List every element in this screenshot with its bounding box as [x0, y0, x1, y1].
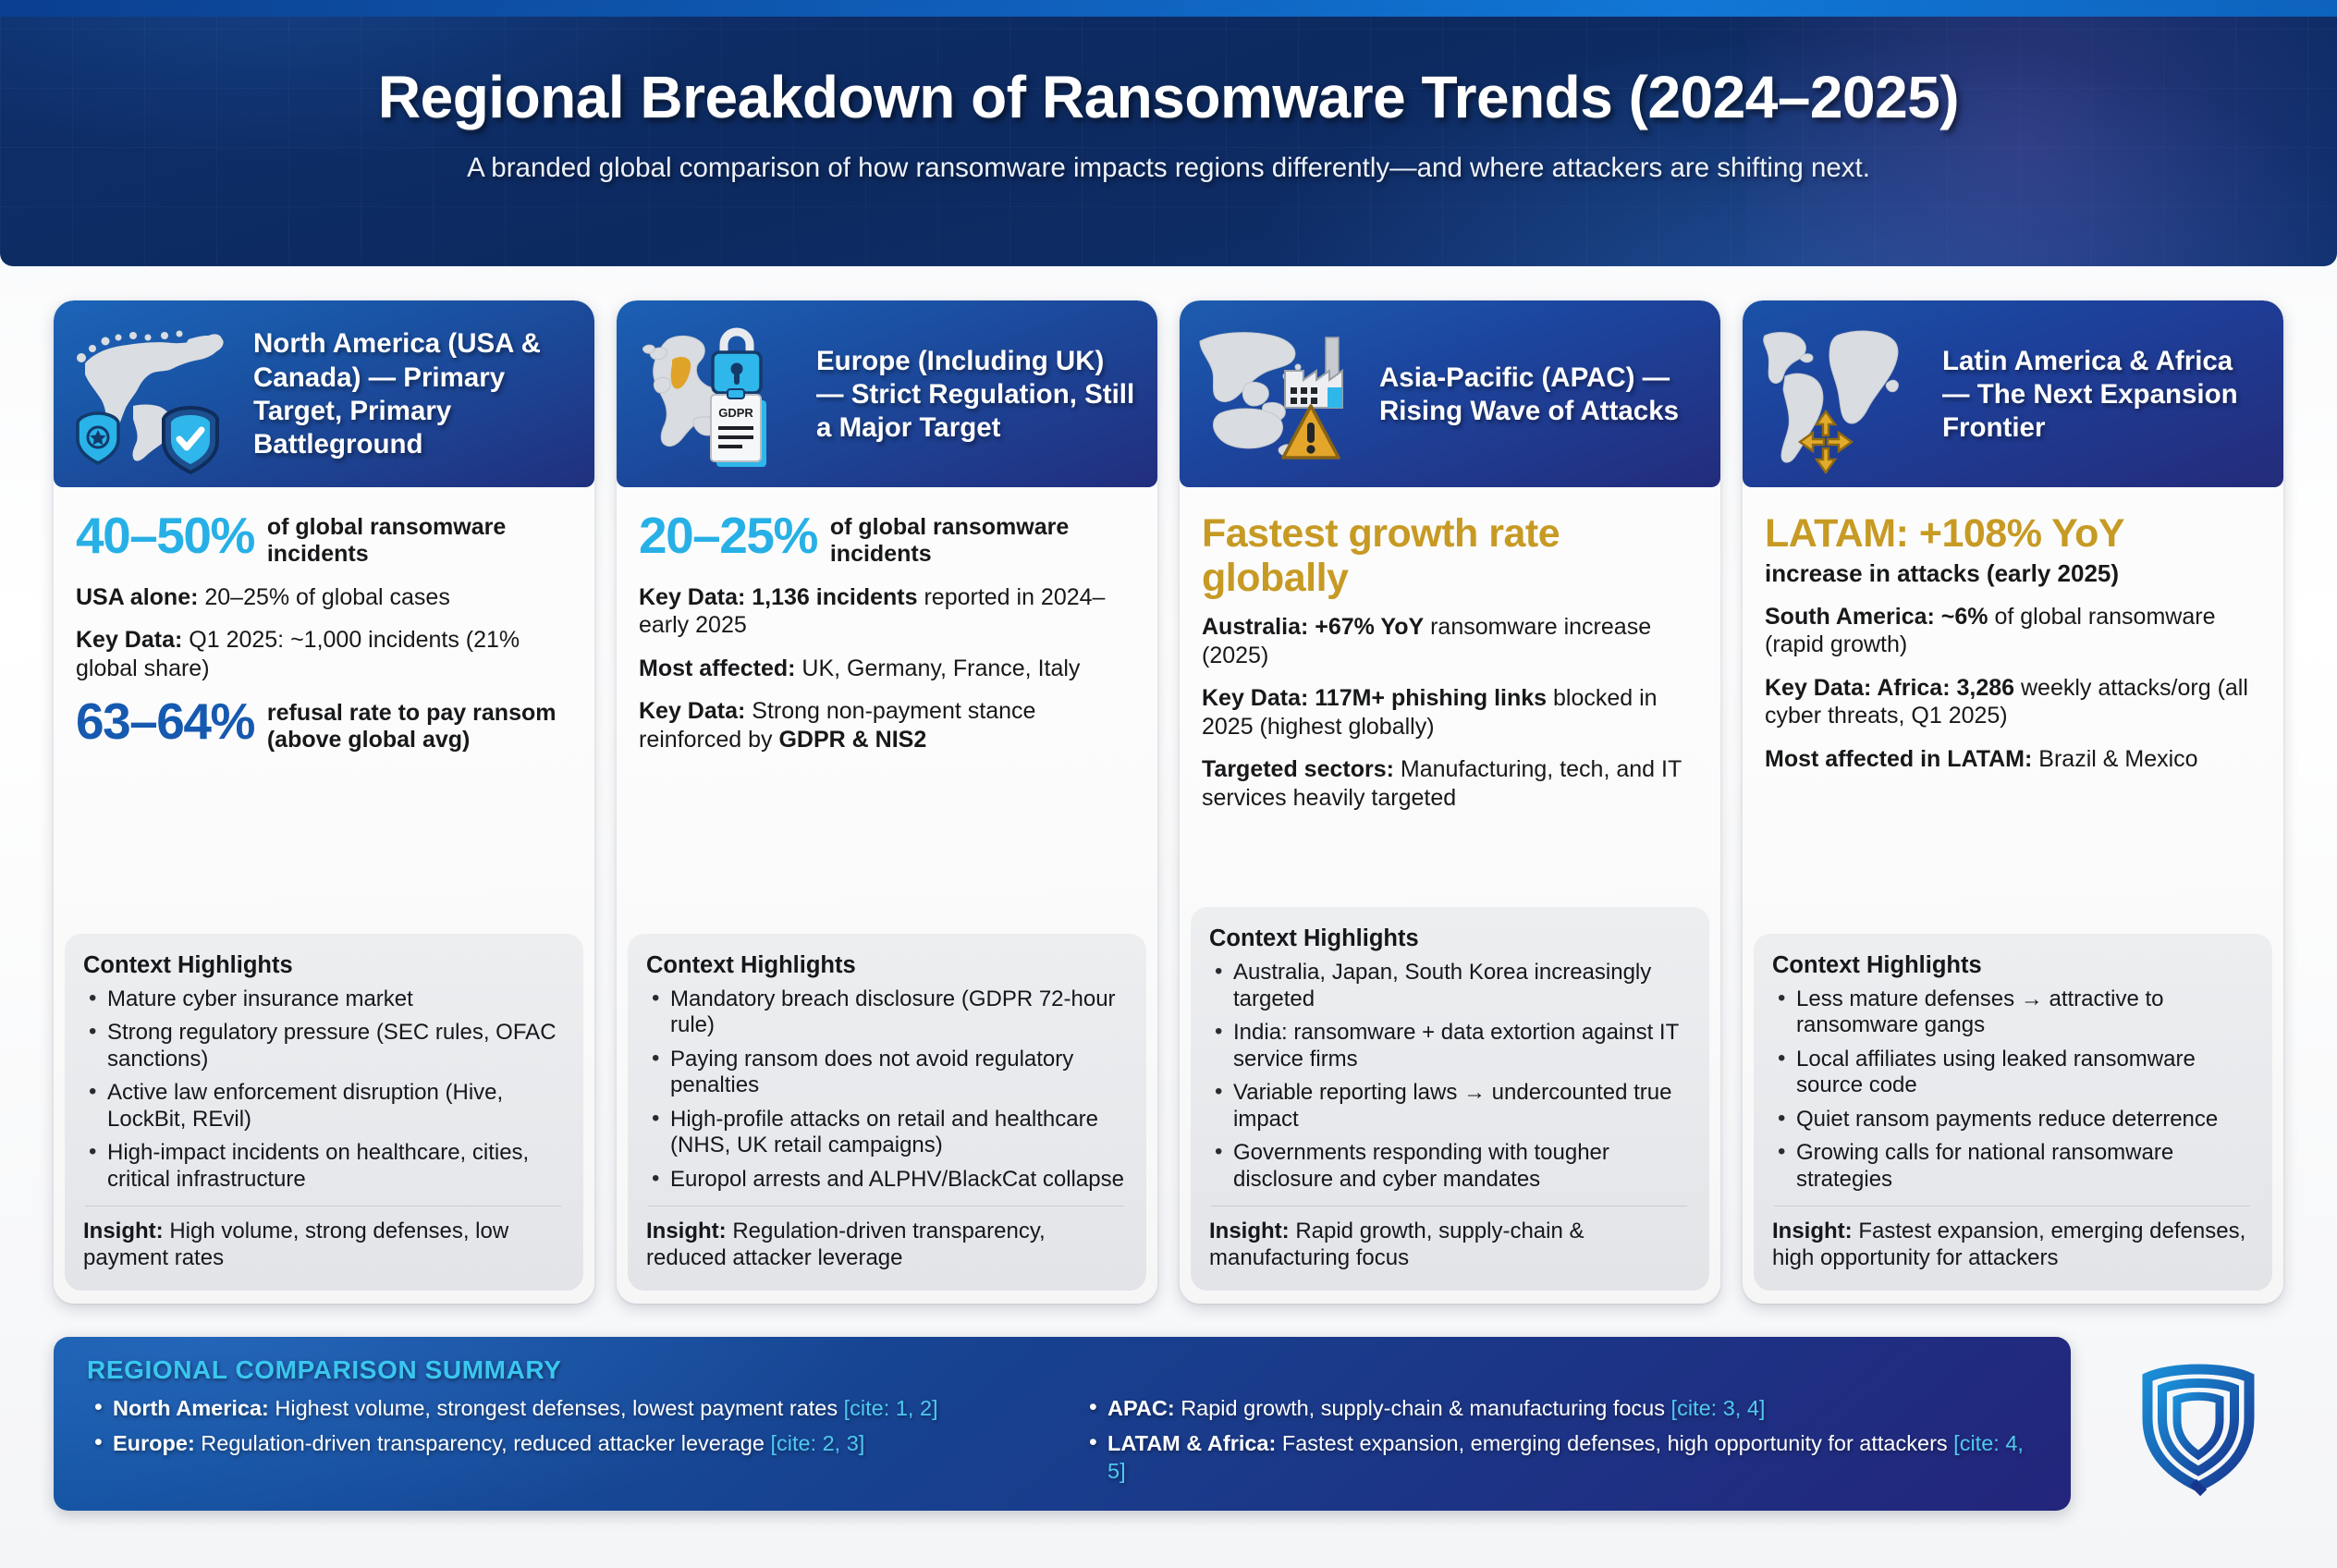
infographic-root: Regional Breakdown of Ransomware Trends … [0, 0, 2337, 1568]
stat-label: of global ransomware incidents [830, 511, 1137, 569]
context-highlights-panel: Context Highlights Less mature defenses … [1754, 934, 2272, 1291]
region-card: Asia-Pacific (APAC) — Rising Wave of Att… [1180, 300, 1720, 1304]
context-list-item: Local affiliates using leaked ransomware… [1772, 1047, 2252, 1099]
context-list-item: Quiet ransom payments reduce deterrence [1772, 1107, 2252, 1133]
insight-line: Insight: Fastest expansion, emerging def… [1772, 1219, 2252, 1272]
context-list-item: Paying ransom does not avoid regulatory … [646, 1047, 1126, 1099]
summary-region-text: Rapid growth, supply-chain & manufacturi… [1175, 1396, 1671, 1420]
summary-title: REGIONAL COMPARISON SUMMARY [87, 1355, 2043, 1385]
latin-america-and-africa-map-with-expansion-arrows-icon [1757, 315, 1933, 474]
divider [648, 1206, 1124, 1207]
summary-list-item: North America: Highest volume, strongest… [87, 1394, 1048, 1423]
fact-line: Most affected: UK, Germany, France, Ital… [639, 655, 1137, 683]
insight-line: Insight: Regulation-driven transparency,… [646, 1219, 1126, 1272]
page-subtitle: A branded global comparison of how ranso… [0, 153, 2337, 184]
fact-emphasis: GDPR & NIS2 [778, 727, 926, 753]
fact-line: USA alone: 20–25% of global cases [76, 583, 574, 612]
header-banner: Regional Breakdown of Ransomware Trends … [0, 17, 2337, 266]
fact-label: Key Data: 117M+ phishing links [1202, 685, 1547, 711]
shield-maze-brand-logo [2117, 1342, 2280, 1505]
card-title: North America (USA & Canada) — Primary T… [253, 327, 578, 461]
divider [1211, 1206, 1687, 1207]
fact-line: Key Data: 1,136 incidents reported in 20… [639, 583, 1137, 640]
fact-label: South America: ~6% [1765, 604, 1988, 630]
fact-line: Key Data: 117M+ phishing links blocked i… [1202, 684, 1700, 741]
card-body: Fastest growth rate globallyAustralia: +… [1180, 487, 1720, 896]
context-list-item: Mature cyber insurance market [83, 986, 563, 1013]
context-list-item: High-profile attacks on retail and healt… [646, 1107, 1126, 1159]
stat-value: 40–50% [76, 511, 254, 560]
insight-line: Insight: High volume, strong defenses, l… [83, 1219, 563, 1272]
context-highlights-panel: Context Highlights Mandatory breach disc… [628, 934, 1146, 1291]
stat-value: 20–25% [639, 511, 817, 560]
summary-region-label: Europe: [113, 1431, 195, 1455]
fact-label: Key Data: [76, 627, 182, 653]
fact-line: Targeted sectors: Manufacturing, tech, a… [1202, 755, 1700, 812]
card-body: 40–50% of global ransomware incidents US… [54, 487, 594, 923]
card-title: Asia-Pacific (APAC) — Rising Wave of Att… [1379, 361, 1704, 429]
card-header: North America (USA & Canada) — Primary T… [54, 300, 594, 487]
fact-line: Key Data: Africa: 3,286 weekly attacks/o… [1765, 674, 2263, 730]
fact-label: Australia: +67% YoY [1202, 614, 1424, 640]
stat-label: of global ransomware incidents [267, 511, 574, 569]
fact-line: Key Data: Q1 2025: ~1,000 incidents (21%… [76, 626, 574, 682]
fact-line: Australia: +67% YoY ransomware increase … [1202, 613, 1700, 669]
context-highlights-panel: Context Highlights Mature cyber insuranc… [65, 934, 583, 1291]
card-body: 20–25% of global ransomware incidents Ke… [617, 487, 1157, 923]
region-card: North America (USA & Canada) — Primary T… [54, 300, 594, 1304]
card-title: Latin America & Africa — The Next Expans… [1942, 345, 2267, 446]
headline-stat: Fastest growth rate globally [1202, 511, 1700, 600]
asia-pacific-map-with-factory-and-warning-triangle-icon [1194, 315, 1370, 474]
context-list-item: Strong regulatory pressure (SEC rules, O… [83, 1020, 563, 1072]
fact-text: UK, Germany, France, Italy [795, 655, 1080, 681]
summary-region-label: APAC: [1107, 1396, 1175, 1420]
card-header: GDPR Europe (Including UK) — Strict Regu… [617, 300, 1157, 487]
card-title: Europe (Including UK) — Strict Regulatio… [816, 345, 1141, 446]
summary-region-text: Regulation-driven transparency, reduced … [195, 1431, 771, 1455]
north-america-map-with-police-badge-and-shield-check-icon [68, 315, 244, 474]
summary-list-item: APAC: Rapid growth, supply-chain & manuf… [1082, 1394, 2043, 1423]
north-america-map-with-police-badge-and-shield-check-icon [68, 315, 244, 474]
context-list-item: Europol arrests and ALPHV/BlackCat colla… [646, 1167, 1126, 1194]
context-highlights-panel: Context Highlights Australia, Japan, Sou… [1191, 907, 1709, 1291]
divider [1774, 1206, 2250, 1207]
summary-region-text: Highest volume, strongest defenses, lowe… [269, 1396, 844, 1420]
page-title: Regional Breakdown of Ransomware Trends … [0, 67, 2337, 129]
context-title: Context Highlights [83, 952, 563, 979]
stat-value: 63–64% [76, 697, 254, 746]
insight-label: Insight: [83, 1219, 164, 1243]
context-list-item: Less mature defenses → attractive to ran… [1772, 986, 2252, 1039]
citation-ref: [cite: 3, 4] [1671, 1396, 1766, 1420]
fact-label: Targeted sectors: [1202, 756, 1394, 782]
context-list: Mature cyber insurance marketStrong regu… [83, 986, 563, 1194]
context-list: Mandatory breach disclosure (GDPR 72-hou… [646, 986, 1126, 1194]
headline-stat: LATAM: +108% YoY [1765, 511, 2263, 556]
europe-map-with-padlock-and-gdpr-document-icon: GDPR [631, 315, 807, 474]
context-title: Context Highlights [1772, 952, 2252, 979]
fact-label: USA alone: [76, 584, 198, 610]
context-list-item: High-impact incidents on healthcare, cit… [83, 1140, 563, 1193]
divider [85, 1206, 561, 1207]
card-body: LATAM: +108% YoYincrease in attacks (ear… [1743, 487, 2283, 923]
citation-ref: [cite: 2, 3] [770, 1431, 864, 1455]
citation-ref: [cite: 1, 2] [844, 1396, 938, 1420]
context-list-item: Mandatory breach disclosure (GDPR 72-hou… [646, 986, 1126, 1039]
regional-comparison-summary: REGIONAL COMPARISON SUMMARY North Americ… [54, 1337, 2071, 1511]
stat-block: 20–25% of global ransomware incidents [639, 511, 1137, 569]
headline-stat-sub: increase in attacks (early 2025) [1765, 559, 2263, 588]
fact-label: Key Data: [639, 698, 745, 724]
stat-block: 40–50% of global ransomware incidents [76, 511, 574, 569]
insight-label: Insight: [646, 1219, 727, 1243]
summary-region-label: North America: [113, 1396, 269, 1420]
fact-line: South America: ~6% of global ransomware … [1765, 603, 2263, 659]
region-card: Latin America & Africa — The Next Expans… [1743, 300, 2283, 1304]
summary-list-right: APAC: Rapid growth, supply-chain & manuf… [1082, 1394, 2043, 1492]
card-header: Asia-Pacific (APAC) — Rising Wave of Att… [1180, 300, 1720, 487]
context-list-item: Australia, Japan, South Korea increasing… [1209, 960, 1689, 1012]
summary-region-label: LATAM & Africa: [1107, 1431, 1276, 1455]
fact-label: Most affected: [639, 655, 795, 681]
context-list: Australia, Japan, South Korea increasing… [1209, 960, 1689, 1193]
europe-map-with-padlock-and-gdpr-document-icon: GDPR [631, 315, 807, 474]
context-list-item: Variable reporting laws → undercounted t… [1209, 1080, 1689, 1133]
context-list-item: India: ransomware + data extortion again… [1209, 1020, 1689, 1072]
fact-line: Most affected in LATAM: Brazil & Mexico [1765, 745, 2263, 774]
asia-pacific-map-with-factory-and-warning-triangle-icon [1194, 315, 1370, 474]
card-header: Latin America & Africa — The Next Expans… [1743, 300, 2283, 487]
fact-text: 20–25% of global cases [198, 584, 449, 610]
summary-region-text: Fastest expansion, emerging defenses, hi… [1276, 1431, 1953, 1455]
summary-list-item: Europe: Regulation-driven transparency, … [87, 1429, 1048, 1458]
summary-list-left: North America: Highest volume, strongest… [87, 1394, 1048, 1492]
context-title: Context Highlights [1209, 925, 1689, 952]
summary-list-item: LATAM & Africa: Fastest expansion, emerg… [1082, 1429, 2043, 1486]
region-card: GDPR Europe (Including UK) — Strict Regu… [617, 300, 1157, 1304]
context-list-item: Active law enforcement disruption (Hive,… [83, 1080, 563, 1133]
fact-label: Most affected in LATAM: [1765, 746, 2032, 772]
latin-america-and-africa-map-with-expansion-arrows-icon [1757, 315, 1933, 474]
insight-label: Insight: [1209, 1219, 1290, 1243]
stat-block: 63–64% refusal rate to pay ransom (above… [76, 697, 574, 754]
context-list-item: Growing calls for national ransomware st… [1772, 1140, 2252, 1193]
stat-label: refusal rate to pay ransom (above global… [267, 697, 574, 754]
context-title: Context Highlights [646, 952, 1126, 979]
svg-text:GDPR: GDPR [718, 406, 753, 420]
fact-label: Key Data: Africa: 3,286 [1765, 675, 2014, 701]
insight-line: Insight: Rapid growth, supply-chain & ma… [1209, 1219, 1689, 1272]
fact-line: Key Data: Strong non-payment stance rein… [639, 697, 1137, 753]
context-list: Less mature defenses → attractive to ran… [1772, 986, 2252, 1194]
fact-label: Key Data: 1,136 incidents [639, 584, 918, 610]
region-cards-row: North America (USA & Canada) — Primary T… [54, 300, 2283, 1304]
insight-label: Insight: [1772, 1219, 1853, 1243]
context-list-item: Governments responding with tougher disc… [1209, 1140, 1689, 1193]
fact-text: Brazil & Mexico [2032, 746, 2197, 772]
